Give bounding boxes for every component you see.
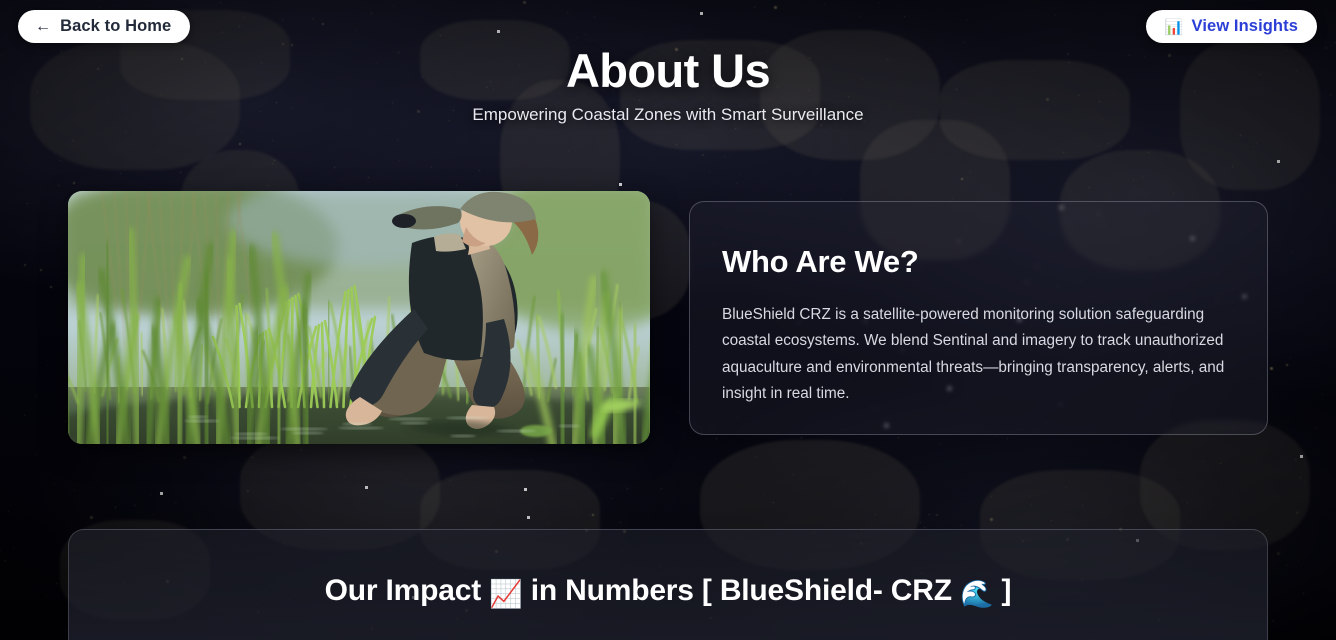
wave-icon: 🌊 xyxy=(960,579,993,610)
impact-title-part1: Our Impact xyxy=(325,574,481,607)
back-to-home-label: Back to Home xyxy=(60,17,171,36)
impact-title-part2: in Numbers [ BlueShield- CRZ xyxy=(531,574,952,607)
view-insights-label: View Insights xyxy=(1192,17,1298,36)
impact-title-part3: ] xyxy=(1002,574,1012,607)
left-arrow-icon: ← xyxy=(35,18,51,36)
view-insights-button[interactable]: 📊 View Insights xyxy=(1146,10,1317,43)
field-researcher-photo xyxy=(68,191,650,444)
page-title: About Us xyxy=(0,46,1336,95)
hero-section: Who Are We? BlueShield CRZ is a satellit… xyxy=(68,191,1268,444)
impact-section-title: Our Impact 📈 in Numbers [ BlueShield- CR… xyxy=(69,574,1267,610)
chart-increasing-icon: 📈 xyxy=(489,579,522,610)
bar-chart-icon: 📊 xyxy=(1165,18,1184,36)
back-to-home-button[interactable]: ← Back to Home xyxy=(18,10,190,43)
who-are-we-card: Who Are We? BlueShield CRZ is a satellit… xyxy=(689,201,1268,435)
page-header: About Us Empowering Coastal Zones with S… xyxy=(0,46,1336,125)
impact-numbers-card: Our Impact 📈 in Numbers [ BlueShield- CR… xyxy=(68,529,1268,640)
page-subtitle: Empowering Coastal Zones with Smart Surv… xyxy=(0,105,1336,125)
who-are-we-body: BlueShield CRZ is a satellite-powered mo… xyxy=(722,302,1235,407)
who-are-we-title: Who Are We? xyxy=(722,244,1235,280)
photo-canvas xyxy=(68,191,650,444)
